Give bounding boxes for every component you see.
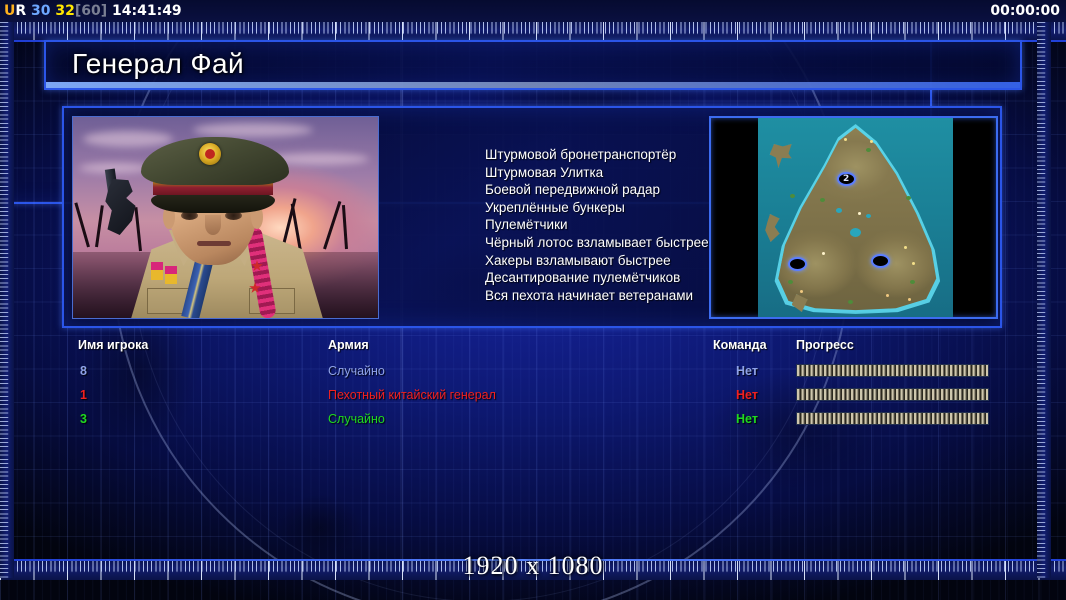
column-header-progress: Прогресс	[796, 338, 854, 352]
game-lobby-screen: UR 30 32[60] 14:41:49 00:00:00 Генерал Ф…	[0, 0, 1066, 600]
column-header-name: Имя игрока	[78, 338, 148, 352]
header-panel-sheen	[46, 82, 1020, 88]
ability-item: Укреплённые бункеры	[485, 199, 709, 217]
player-table-body: 8 Случайно Нет 1 Пехотный китайский гене…	[78, 364, 1008, 436]
table-row[interactable]: 8 Случайно Нет	[78, 364, 1008, 388]
general-info-panel: Штурмовой бронетранспортёр Штурмовая Ули…	[62, 106, 1002, 328]
status-value-fps: 32	[55, 3, 74, 19]
minimap-foliage	[866, 148, 871, 152]
player-name[interactable]: 3	[80, 412, 87, 426]
portrait-mouth	[197, 241, 231, 246]
minimap-foliage	[788, 280, 793, 284]
minimap-prop	[886, 294, 889, 297]
minimap-prop	[844, 138, 847, 141]
general-abilities-list: Штурмовой бронетранспортёр Штурмовая Ули…	[379, 116, 709, 318]
ability-item: Хакеры взламывают быстрее	[485, 252, 709, 270]
ability-item: Чёрный лотос взламывает быстрее	[485, 234, 709, 252]
player-progress-bar	[796, 412, 989, 425]
minimap-start-position[interactable]	[788, 257, 807, 271]
ruler-strip-right	[1037, 22, 1051, 578]
minimap-prop	[912, 262, 915, 265]
resolution-label: 1920 x 1080	[0, 551, 1066, 581]
portrait-nose	[205, 215, 221, 235]
status-timer: 00:00:00	[990, 0, 1060, 22]
table-row[interactable]: 3 Случайно Нет	[78, 412, 1008, 436]
portrait-cloud	[193, 123, 313, 137]
minimap-prop	[870, 140, 873, 143]
player-name[interactable]: 1	[80, 388, 87, 402]
status-clock: 14:41:49	[112, 3, 182, 19]
player-progress-bar	[796, 388, 989, 401]
ability-item: Штурмовой бронетранспортёр	[485, 146, 709, 164]
portrait-medal	[151, 262, 163, 280]
ruler-strip-left	[0, 22, 14, 578]
status-bar: UR 30 32[60] 14:41:49 00:00:00	[0, 0, 1066, 22]
player-army[interactable]: Пехотный китайский генерал	[328, 388, 496, 402]
minimap-water-feature	[866, 214, 871, 218]
minimap-prop	[908, 298, 911, 301]
minimap-start-position[interactable]: 2	[837, 172, 856, 186]
portrait-cap-badge	[199, 143, 221, 165]
minimap-prop	[822, 252, 825, 255]
minimap-foliage	[906, 196, 911, 200]
minimap-foliage	[910, 280, 915, 284]
minimap-start-position[interactable]	[871, 254, 890, 268]
minimap-islet	[770, 144, 792, 168]
status-value-ping: 30	[31, 3, 50, 19]
ability-item: Десантирование пулемётчиков	[485, 269, 709, 287]
ability-item: Боевой передвижной радар	[485, 181, 709, 199]
player-team[interactable]: Нет	[736, 388, 758, 402]
column-header-army: Армия	[328, 338, 369, 352]
minimap-prop	[800, 290, 803, 293]
minimap-foliage	[820, 198, 825, 202]
player-army[interactable]: Случайно	[328, 412, 385, 426]
player-table-headers: Имя игрока Армия Команда Прогресс	[78, 338, 1008, 356]
minimap-islet	[764, 214, 780, 242]
minimap-prop	[904, 246, 907, 249]
portrait-medal	[165, 266, 177, 284]
player-name[interactable]: 8	[80, 364, 87, 378]
ability-item: Вся пехота начинает ветеранами	[485, 287, 709, 305]
minimap-canvas: 2	[758, 118, 953, 317]
general-header-panel: Генерал Фай	[44, 40, 1022, 90]
player-team[interactable]: Нет	[736, 412, 758, 426]
map-preview[interactable]: 2	[709, 116, 998, 319]
player-progress-bar	[796, 364, 989, 377]
status-value-fps-max: [60]	[75, 3, 107, 19]
status-label-r: R	[15, 3, 26, 19]
status-label-u: U	[4, 3, 15, 19]
column-header-team: Команда	[713, 338, 767, 352]
ability-item: Пулемётчики	[485, 216, 709, 234]
table-row[interactable]: 1 Пехотный китайский генерал Нет	[78, 388, 1008, 412]
minimap-landmass	[772, 126, 940, 312]
minimap-foliage	[790, 194, 795, 198]
status-bar-left-group: UR 30 32[60] 14:41:49	[4, 0, 182, 22]
minimap-foliage	[848, 300, 853, 304]
player-army[interactable]: Случайно	[328, 364, 385, 378]
ruler-major-ticks-top	[0, 22, 1066, 42]
minimap-water-feature	[850, 228, 861, 237]
player-team[interactable]: Нет	[736, 364, 758, 378]
page-title: Генерал Фай	[72, 48, 244, 80]
minimap-prop	[858, 212, 861, 215]
general-portrait	[72, 116, 379, 319]
ability-item: Штурмовая Улитка	[485, 164, 709, 182]
portrait-cloud	[83, 131, 173, 147]
minimap-water-feature	[836, 208, 842, 213]
ruler-strip-top	[0, 22, 1066, 42]
